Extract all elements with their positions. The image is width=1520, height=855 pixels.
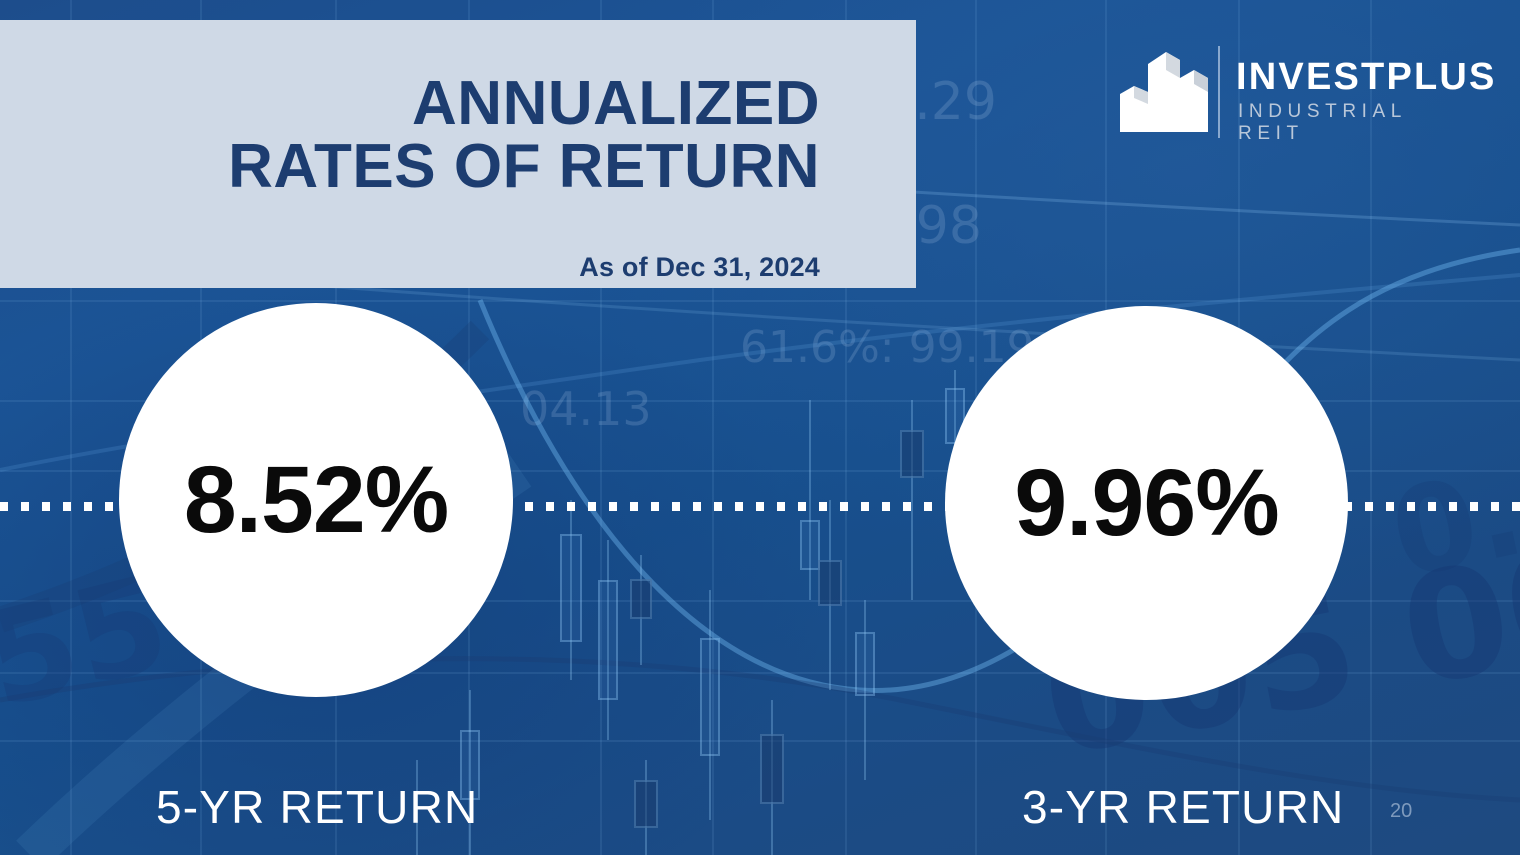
- candlestick-icon: [560, 500, 582, 680]
- candlestick-icon: [598, 540, 618, 740]
- buildings-icon: [1118, 48, 1210, 136]
- page-title-line-1: ANNUALIZED: [228, 72, 820, 135]
- bg-watermark-number: 0.0: [1380, 426, 1520, 606]
- candlestick-icon: [700, 590, 720, 820]
- stat-value-5yr: 8.52%: [184, 453, 448, 548]
- candlestick-icon: [800, 400, 820, 600]
- logo-wordmark: INVESTPLUS: [1236, 56, 1497, 99]
- page-title-line-2: RATES OF RETURN: [228, 135, 820, 198]
- candlestick-icon: [760, 700, 784, 855]
- page-title: ANNUALIZED RATES OF RETURN: [228, 72, 820, 198]
- stat-label-5yr: 5-YR RETURN: [156, 780, 478, 834]
- logo-tagline: INDUSTRIAL REIT: [1238, 101, 1478, 145]
- page-number: 20: [1390, 800, 1412, 823]
- brand-logo: INVESTPLUS INDUSTRIAL REIT: [1118, 46, 1478, 144]
- stat-value-3yr: 9.96%: [1014, 456, 1278, 551]
- candlestick-icon: [900, 400, 924, 600]
- candlestick-icon: [855, 600, 875, 780]
- logo-divider: [1218, 46, 1220, 138]
- stat-circle-5yr: 8.52%: [119, 303, 513, 697]
- page-subtitle: As of Dec 31, 2024: [579, 252, 820, 283]
- candlestick-icon: [818, 500, 842, 690]
- stat-circle-3yr: 9.96%: [945, 306, 1348, 700]
- title-panel: ANNUALIZED RATES OF RETURN As of Dec 31,…: [0, 20, 916, 288]
- bg-watermark-number: 61.6%: 99.19: [740, 322, 1035, 373]
- candlestick-icon: [630, 555, 652, 665]
- stat-label-3yr: 3-YR RETURN: [1022, 780, 1344, 834]
- slide-canvas: 119.29 103.98 61.6%: 99.19 04.13 005 00 …: [0, 0, 1520, 855]
- bg-watermark-number: 04.13: [520, 382, 652, 436]
- candlestick-icon: [634, 760, 658, 855]
